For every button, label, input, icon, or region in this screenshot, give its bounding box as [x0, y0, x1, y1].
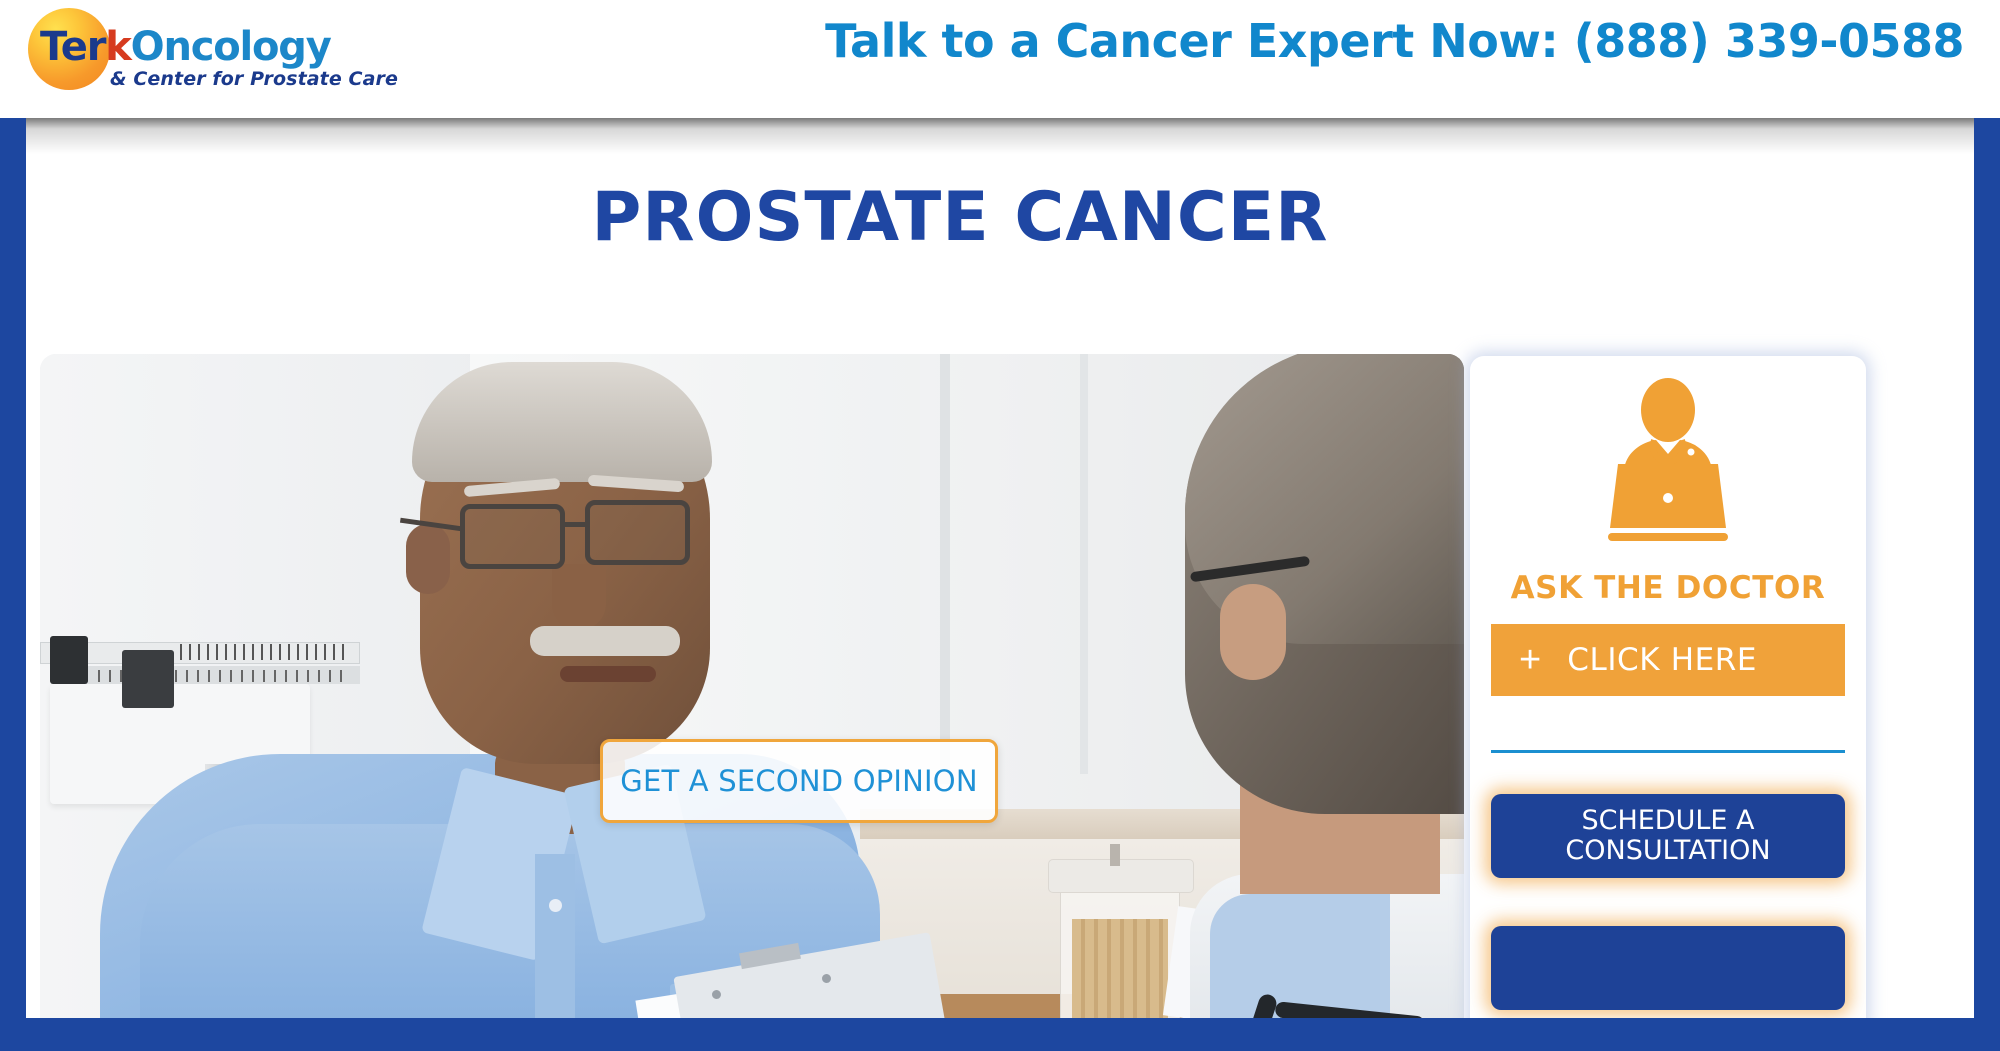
site-logo[interactable]: TerkOncology & Center for Prostate Care: [22, 6, 362, 98]
logo-word-oncology: Oncology: [131, 24, 331, 70]
patient-nose: [552, 564, 606, 630]
logo-word-ter: Ter: [40, 24, 105, 70]
schedule-consultation-button[interactable]: SCHEDULE ACONSULTATION: [1491, 794, 1845, 878]
jar-knob: [1110, 844, 1120, 866]
patient-moustache: [530, 626, 680, 656]
page-content: PROSTATE CANCER: [26, 118, 1974, 1018]
frame-rail-left: [0, 118, 26, 1051]
door-edge-1: [940, 354, 950, 784]
patient-ear: [406, 524, 450, 594]
get-second-opinion-label: GET A SECOND OPINION: [620, 764, 977, 798]
ask-the-doctor-title: ASK THE DOCTOR: [1470, 570, 1866, 606]
patient-glasses-bridge: [563, 522, 587, 527]
doctor-ear: [1220, 584, 1286, 680]
page-title: PROSTATE CANCER: [26, 178, 1894, 257]
click-here-button[interactable]: + CLICK HERE: [1491, 624, 1845, 696]
get-second-opinion-button[interactable]: GET A SECOND OPINION: [600, 739, 998, 823]
page-root: TerkOncology & Center for Prostate Care …: [0, 0, 2000, 1051]
secondary-cta-button-partial[interactable]: [1491, 926, 1845, 1010]
doctor-shirt-collar: [1210, 894, 1390, 1018]
schedule-consultation-label: SCHEDULE ACONSULTATION: [1565, 806, 1770, 866]
medical-scale-ticks: [180, 644, 350, 660]
patient-hair: [412, 362, 712, 482]
tongue-depressors: [1072, 919, 1168, 1018]
frame-rail-bottom: [0, 1018, 2000, 1051]
schedule-line-1: SCHEDULE A: [1581, 805, 1754, 836]
logo-tagline: & Center for Prostate Care: [110, 68, 398, 90]
click-here-label: CLICK HERE: [1567, 642, 1757, 678]
medical-scale-weight-1: [50, 636, 88, 684]
frame-rail-right: [1974, 118, 2000, 1051]
patient-glasses-right-lens: [585, 500, 690, 565]
card-divider: [1491, 750, 1845, 753]
door-edge-2: [1080, 354, 1088, 774]
plus-icon: +: [1519, 641, 1541, 679]
patient-shirt-placket: [535, 854, 575, 1018]
logo-wordmark: TerkOncology: [40, 24, 331, 70]
patient-glasses-left-lens: [460, 504, 565, 569]
schedule-line-2: CONSULTATION: [1565, 835, 1770, 866]
jar-lid: [1048, 859, 1194, 893]
ask-the-doctor-card: ASK THE DOCTOR + CLICK HERE SCHEDULE ACO…: [1470, 356, 1866, 1018]
logo-word-k: k: [105, 24, 130, 70]
doctor-at-laptop-icon: [1594, 378, 1742, 554]
hero-photo: GET A SECOND OPINION: [40, 354, 1464, 1018]
medical-scale-weight-2: [122, 650, 174, 708]
site-header: TerkOncology & Center for Prostate Care …: [0, 0, 2000, 118]
patient-mouth: [560, 666, 656, 682]
phone-cta-text[interactable]: Talk to a Cancer Expert Now: (888) 339-0…: [500, 14, 1980, 68]
patient-shirt-button-1: [549, 899, 562, 912]
